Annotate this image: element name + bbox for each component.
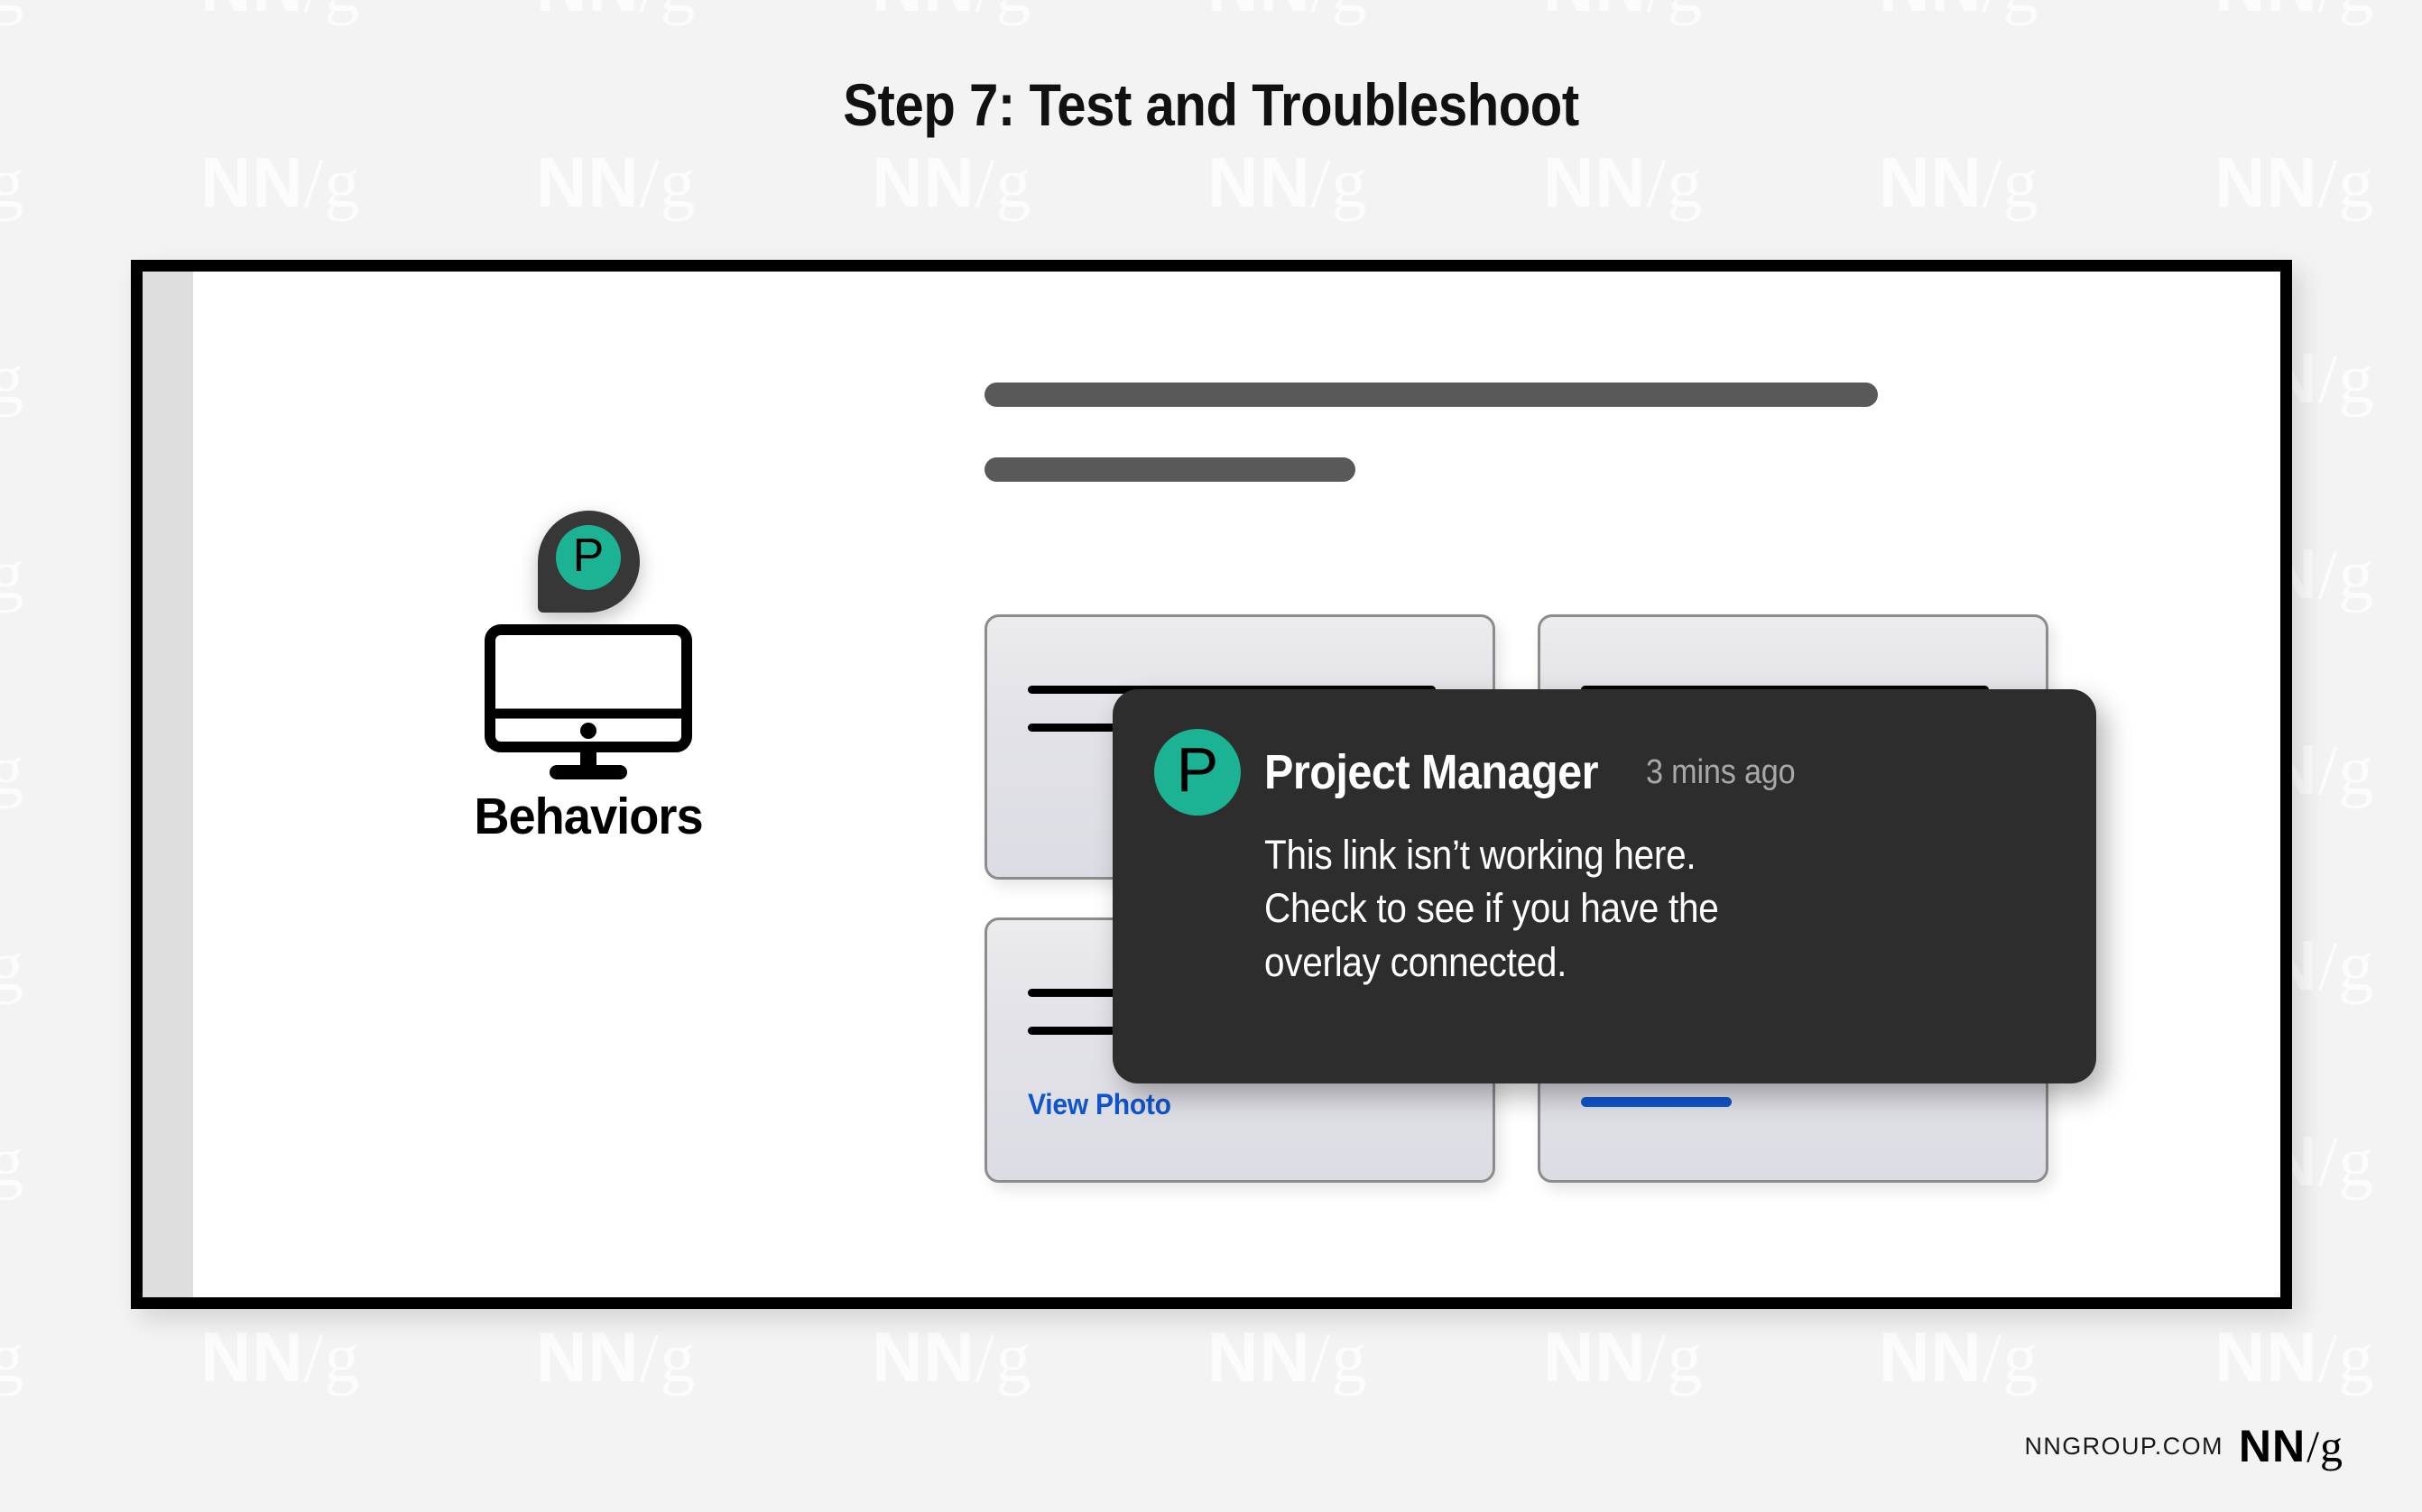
watermark-nng: NN/g xyxy=(0,729,24,811)
card-link-placeholder-bar[interactable] xyxy=(1581,1097,1732,1107)
watermark-nng: NN/g xyxy=(536,142,696,224)
watermark-nng: NN/g xyxy=(872,142,1031,224)
comment-author-name: Project Manager xyxy=(1264,744,1598,800)
watermark-nng: NN/g xyxy=(872,1316,1031,1398)
watermark-nng: NN/g xyxy=(200,1316,360,1398)
watermark-nng: NN/g xyxy=(1207,142,1367,224)
page-title: Step 7: Test and Troubleshoot xyxy=(145,70,2277,139)
watermark-nng: NN/g xyxy=(0,1316,24,1398)
comment-body-text: This link isn’t working here. Check to s… xyxy=(1264,828,2157,989)
watermark-nng: NN/g xyxy=(1543,142,1703,224)
sidebar-strip xyxy=(143,272,193,1297)
watermark-nng: NN/g xyxy=(2214,0,2374,28)
behaviors-label: Behaviors xyxy=(409,787,769,846)
comment-pin-icon[interactable]: P xyxy=(538,511,640,613)
watermark-nng: NN/g xyxy=(1879,1316,2038,1398)
watermark-nng: NN/g xyxy=(200,0,360,28)
nng-logo-slash: / xyxy=(2306,1424,2320,1469)
watermark-nng: NN/g xyxy=(1543,1316,1703,1398)
header-placeholder-bar-primary xyxy=(985,383,1878,407)
watermark-nng: NN/g xyxy=(536,0,696,28)
watermark-nng: NN/g xyxy=(0,925,24,1007)
footer-site-url: NNGROUP.COM xyxy=(2024,1433,2223,1461)
comment-avatar: P xyxy=(1154,729,1241,816)
watermark-nng: NN/g xyxy=(1543,0,1703,28)
watermark-nng: NN/g xyxy=(872,0,1031,28)
comment-tooltip[interactable]: P Project Manager 3 mins ago This link i… xyxy=(1113,689,2096,1083)
watermark-nng: NN/g xyxy=(1879,0,2038,28)
watermark-nng: NN/g xyxy=(200,142,360,224)
view-photo-link[interactable]: View Photo xyxy=(1028,1088,1171,1121)
behaviors-block: P Behaviors xyxy=(399,511,778,846)
watermark-nng: NN/g xyxy=(1207,1316,1367,1398)
pin-avatar-letter: P xyxy=(573,532,605,579)
watermark-nng: NN/g xyxy=(2214,1316,2374,1398)
pin-avatar: P xyxy=(556,525,621,590)
watermark-nng: NN/g xyxy=(0,0,24,28)
footer-brand: NNGROUP.COM NN / g xyxy=(2024,1424,2343,1469)
watermark-nng: NN/g xyxy=(536,1316,696,1398)
watermark-nng: NN/g xyxy=(1207,0,1367,28)
watermark-nng: NN/g xyxy=(2214,142,2374,224)
comment-header: P Project Manager 3 mins ago xyxy=(1154,729,2048,816)
header-placeholder-bar-secondary xyxy=(985,457,1355,482)
watermark-nng: NN/g xyxy=(0,142,24,224)
nng-logo-nn: NN xyxy=(2239,1424,2306,1469)
watermark-nng: NN/g xyxy=(1879,142,2038,224)
watermark-nng: NN/g xyxy=(0,533,24,615)
nng-logo-g: g xyxy=(2320,1424,2343,1469)
desktop-monitor-icon xyxy=(485,624,692,785)
watermark-nng: NN/g xyxy=(0,337,24,419)
comment-avatar-letter: P xyxy=(1177,738,1219,801)
watermark-nng: NN/g xyxy=(0,1120,24,1203)
comment-timestamp: 3 mins ago xyxy=(1646,753,1796,792)
nng-logo: NN / g xyxy=(2239,1424,2343,1469)
